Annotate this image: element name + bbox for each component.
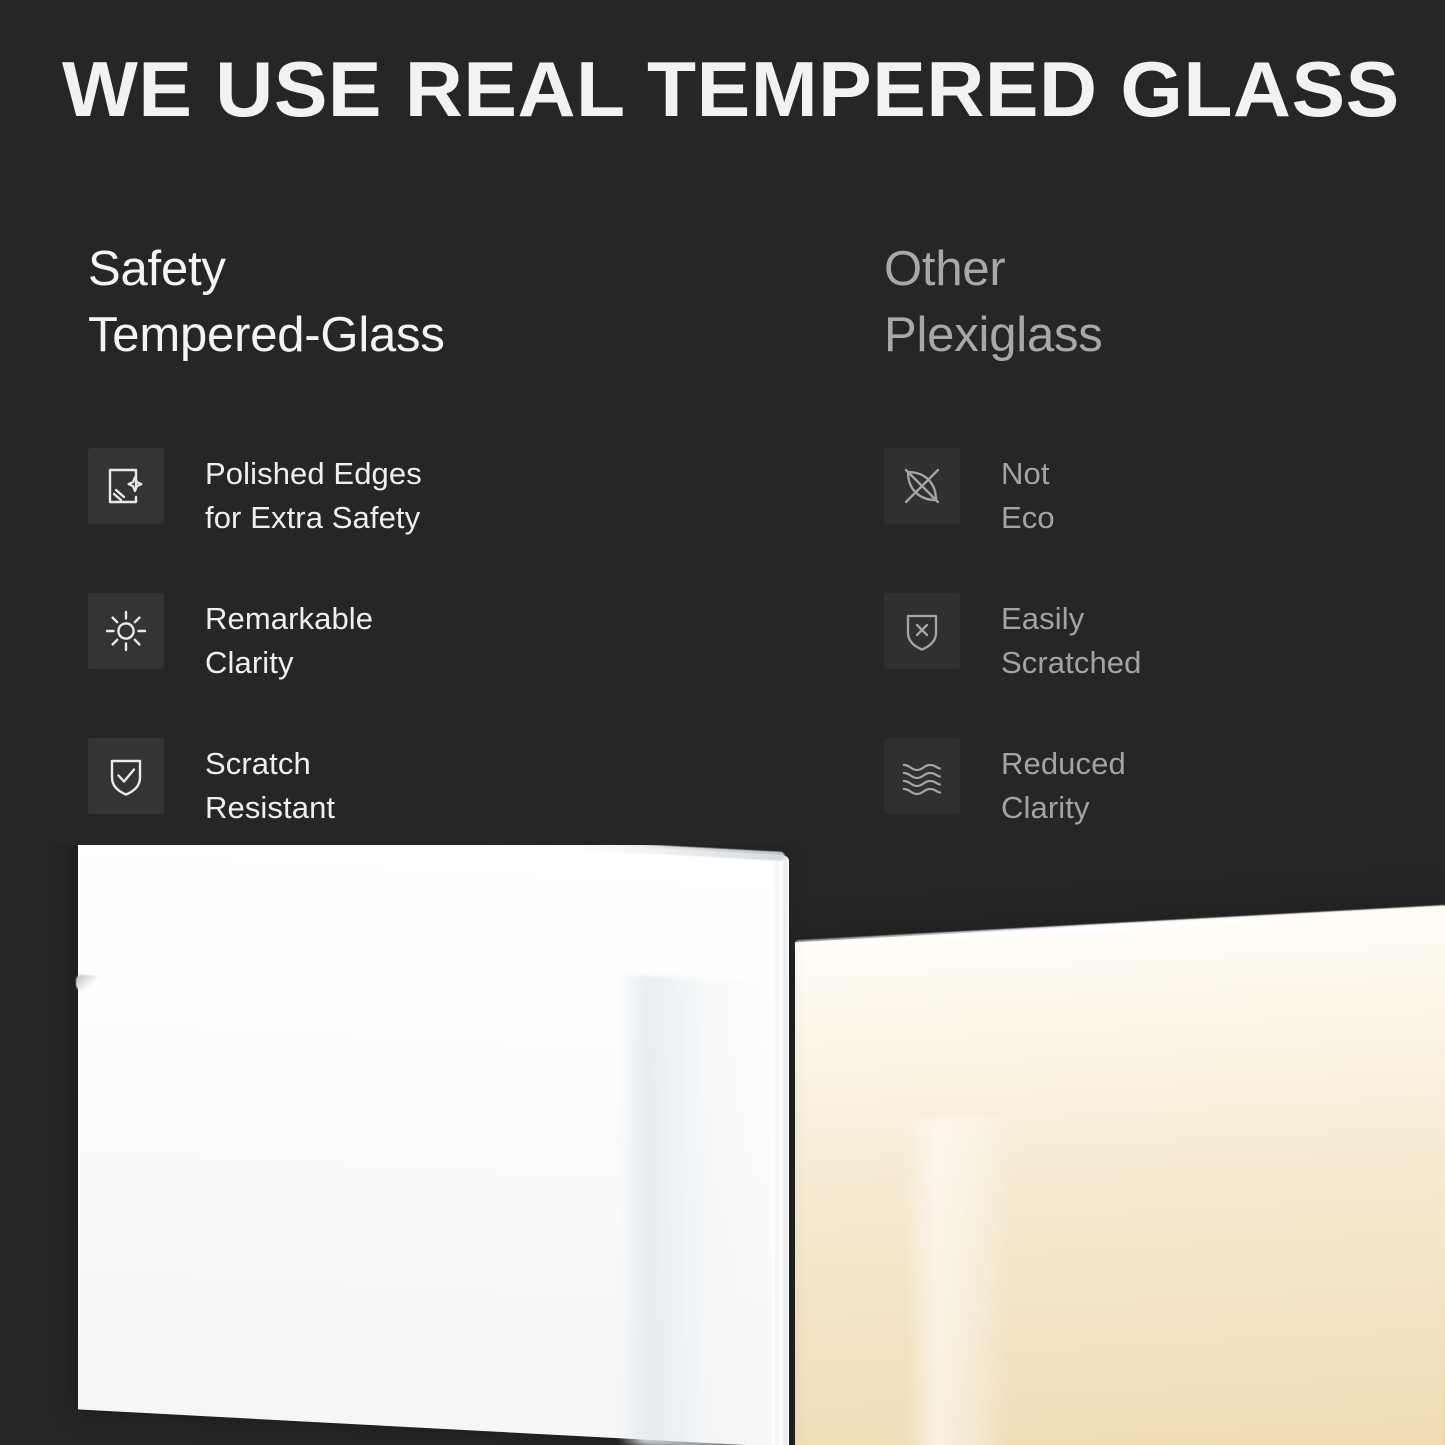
column-plexiglass: Other Plexiglass Not Eco	[884, 236, 1424, 368]
feature-label: Easily Scratched	[1001, 597, 1141, 685]
feature-label: Polished Edges for Extra Safety	[205, 452, 422, 540]
glass-comparison-artwork	[0, 845, 1445, 1445]
sun-brightness-icon	[88, 593, 164, 669]
tempered-glass-panel	[78, 845, 783, 1445]
page-title: WE USE REAL TEMPERED GLASS	[62, 42, 1432, 136]
feature-label: Not Eco	[1001, 452, 1055, 540]
column-tempered-glass: Safety Tempered-Glass Polished Edges for…	[88, 236, 808, 368]
plexiglass-panel	[795, 907, 1445, 1445]
column-title-left: Safety Tempered-Glass	[88, 236, 808, 368]
wavy-lines-icon	[884, 738, 960, 814]
tempered-glass-polished-edge	[772, 855, 789, 1445]
feature-list-left: Polished Edges for Extra Safety	[88, 448, 808, 883]
feature-row: Polished Edges for Extra Safety	[88, 448, 808, 593]
polished-glass-pane-sparkle-icon	[88, 448, 164, 524]
feature-label: Remarkable Clarity	[205, 597, 373, 685]
promo-graphic: WE USE REAL TEMPERED GLASS Safety Temper…	[0, 0, 1445, 1445]
feature-row: Remarkable Clarity	[88, 593, 808, 738]
feature-label: Scratch Resistant	[205, 742, 335, 830]
feature-label: Reduced Clarity	[1001, 742, 1126, 830]
feature-row: Easily Scratched	[884, 593, 1424, 738]
feature-row: Not Eco	[884, 448, 1424, 593]
leaf-crossed-out-icon	[884, 448, 960, 524]
tempered-glass-corner-nub	[76, 974, 98, 991]
column-title-right: Other Plexiglass	[884, 236, 1424, 368]
shield-x-icon	[884, 593, 960, 669]
feature-list-right: Not Eco Easily Scratched	[884, 448, 1424, 883]
shield-check-icon	[88, 738, 164, 814]
